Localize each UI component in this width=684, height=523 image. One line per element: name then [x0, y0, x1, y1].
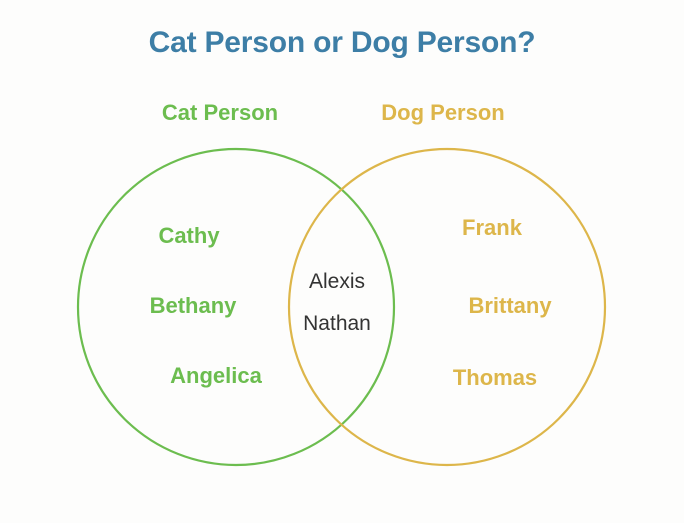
dog-only-name-list: Frank Brittany Thomas	[390, 214, 600, 392]
list-item: Frank	[462, 214, 522, 242]
list-item: Bethany	[150, 292, 237, 320]
list-item: Cathy	[158, 222, 219, 250]
venn-diagram-page: Cat Person or Dog Person? Cat Person Dog…	[0, 0, 684, 523]
list-item: Angelica	[170, 362, 262, 390]
list-item: Nathan	[303, 310, 371, 338]
intersection-name-list: Alexis Nathan	[278, 268, 396, 338]
list-item: Thomas	[453, 364, 537, 392]
list-item: Brittany	[468, 292, 551, 320]
list-item: Alexis	[309, 268, 365, 296]
